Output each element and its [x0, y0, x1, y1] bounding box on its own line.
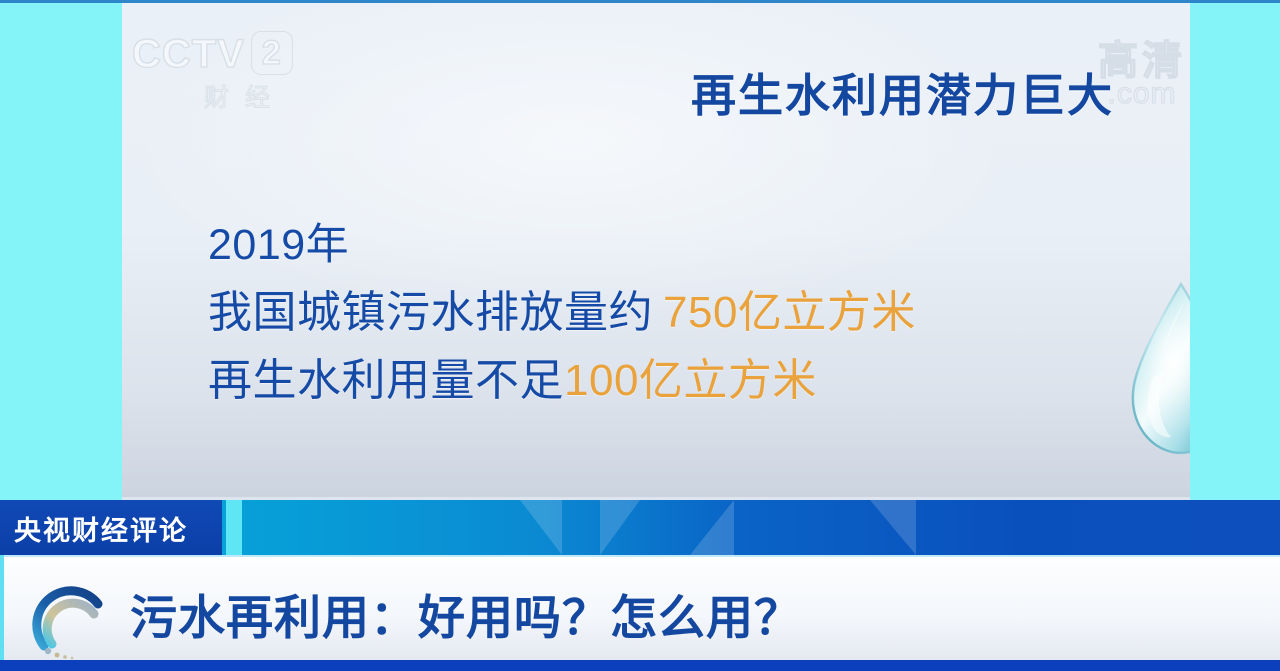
main-graphic-panel: CCTV2 财经 高清 .com 再生水利用潜力巨大 2019年 我国城镇污水排… [122, 3, 1190, 497]
right-cyan-band [1190, 0, 1280, 500]
broadcast-screen: CCTV2 财经 高清 .com 再生水利用潜力巨大 2019年 我国城镇污水排… [0, 0, 1280, 671]
cctv-channel-logo: CCTV2 财经 [132, 31, 342, 121]
band-pattern-triangle [520, 500, 562, 555]
cctv-channel-number: 2 [251, 31, 293, 75]
badge-accent-bar [226, 500, 242, 555]
lower-blue-band: 央视财经评论 [0, 500, 1280, 555]
cctv-logo-wordmark: CCTV2 [132, 31, 342, 76]
top-divider-rule [0, 0, 1280, 3]
stat-line-discharge: 我国城镇污水排放量约750亿立方米 [208, 279, 916, 347]
spiral-arc-logo-icon [24, 570, 116, 662]
stat-line-reuse: 再生水利用量不足100亿立方米 [208, 347, 916, 415]
stat-discharge-value: 750亿立方米 [663, 288, 916, 337]
statistics-block: 2019年 我国城镇污水排放量约750亿立方米 再生水利用量不足100亿立方米 [208, 211, 916, 415]
stat-reuse-value: 100亿立方米 [564, 356, 817, 405]
water-drop-icon [1122, 281, 1190, 459]
band-pattern-triangle [600, 500, 640, 555]
bottom-left-accent-tick [0, 555, 4, 660]
cctv-channel-subtitle: 财经 [132, 78, 342, 114]
band-pattern-triangle [870, 500, 916, 555]
band-pattern-triangle [690, 500, 734, 555]
program-badge: 央视财经评论 [0, 500, 222, 555]
stat-year-label: 2019年 [208, 221, 349, 269]
headline-bar-top-line [0, 555, 1280, 557]
stat-discharge-label: 我国城镇污水排放量约 [208, 288, 653, 337]
stat-reuse-label: 再生水利用量不足 [208, 356, 564, 405]
left-cyan-band [0, 0, 122, 500]
bottom-blue-rule [0, 660, 1280, 671]
cctv-logo-letters: CCTV [132, 32, 245, 76]
program-headline: 污水再利用：好用吗？怎么用？ [130, 579, 802, 648]
graphic-title: 再生水利用潜力巨大 [691, 59, 1114, 124]
program-badge-label: 央视财经评论 [14, 509, 188, 548]
stat-line-year: 2019年 [208, 211, 916, 279]
